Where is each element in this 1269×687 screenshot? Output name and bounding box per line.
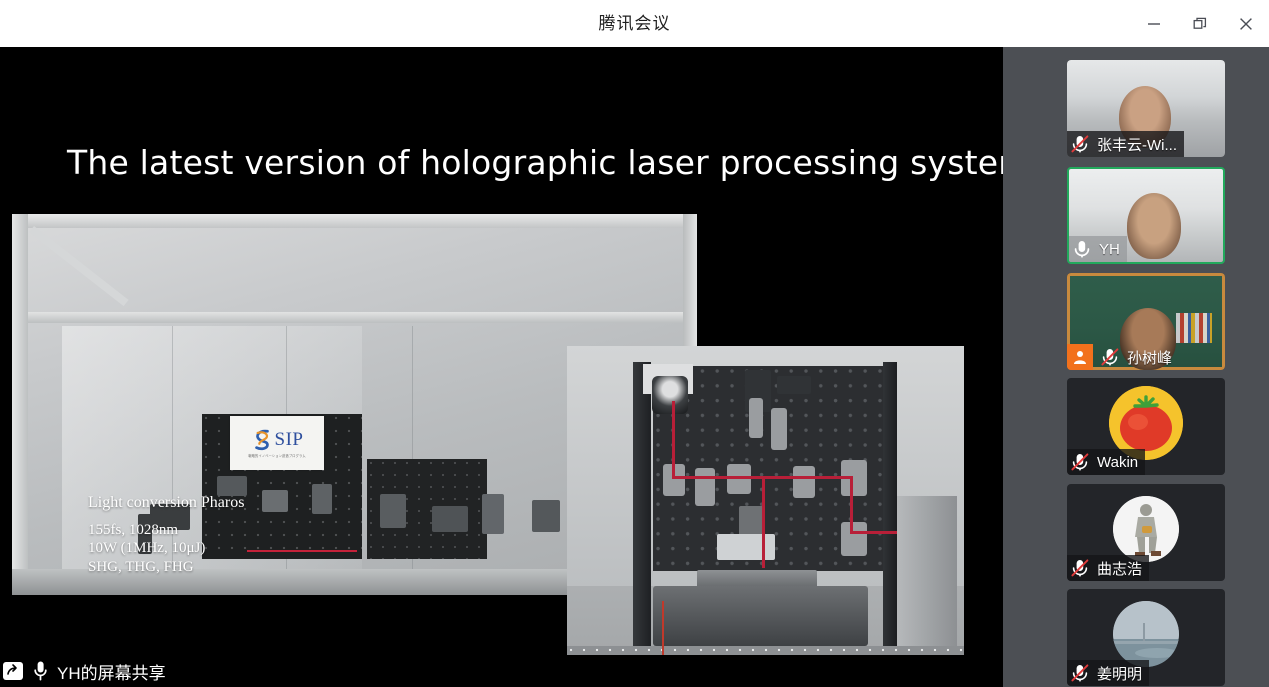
restore-icon [1193, 17, 1207, 31]
optic-mount-f [432, 506, 468, 532]
optic-post-r5 [727, 464, 751, 494]
restore-button[interactable] [1177, 0, 1223, 47]
optic-post-r8 [841, 522, 867, 556]
minimize-icon [1147, 17, 1161, 31]
laser-beam-right-down [850, 476, 853, 534]
frame-diagonal-brace [29, 226, 128, 306]
annotation-line-0: 155fs, 1028nm [88, 521, 244, 539]
frame-top [12, 214, 697, 228]
participant-nameplate: Wakin [1067, 449, 1145, 475]
optic-mount-g [482, 494, 504, 534]
participant-nameplate: 张丰云-Wi... [1067, 131, 1184, 157]
support-post-right [883, 362, 897, 652]
optic-post-r4 [695, 468, 715, 506]
participant-nameplate: 孙树峰 [1067, 344, 1179, 370]
mic-muted-icon [1097, 344, 1123, 370]
sip-logo-subtext: 戦略的イノベーション創造プログラム [248, 453, 305, 458]
annotation-heading: Light conversion Pharos [88, 494, 244, 512]
laser-beam-down [762, 476, 765, 568]
participant-tile-wakin[interactable]: Wakin [1067, 378, 1225, 475]
presentation-slide: The latest version of holographic laser … [0, 47, 1003, 655]
sip-logo: SIP 戦略的イノベーション創造プログラム [230, 416, 324, 470]
participant-nameplate: 姜明明 [1067, 660, 1149, 686]
motion-stage [653, 586, 868, 646]
tencent-meeting-window: 腾讯会议 [0, 0, 1269, 687]
seascape-avatar-icon [1113, 601, 1179, 667]
optic-mount-c [262, 490, 288, 512]
screen-share-bar: YH的屏幕共享 [0, 655, 1003, 687]
optic-post-r2 [771, 408, 787, 450]
sip-mark-icon [251, 428, 273, 452]
participant-tile-sunshufeng[interactable]: 孙树峰 [1067, 273, 1225, 370]
participant-name: Wakin [1097, 454, 1138, 471]
annotation-line-2: SHG, THG, FHG [88, 558, 244, 576]
participant-name: 孙树峰 [1127, 347, 1172, 368]
participant-name: YH [1099, 241, 1120, 258]
frame-left [12, 214, 28, 595]
host-badge-icon [1067, 344, 1093, 370]
frame-mid [12, 312, 697, 323]
mic-muted-icon [1067, 131, 1093, 157]
laser-beam-path-left [247, 550, 357, 552]
app-title: 腾讯会议 [0, 0, 1269, 47]
avatar [1113, 496, 1179, 562]
window-controls [1131, 0, 1269, 47]
annotation-line-1: 10W (1MHz, 10μJ) [88, 539, 244, 557]
participant-tile-quzhihao[interactable]: 曲志浩 [1067, 484, 1225, 581]
laser-beam-vertical [672, 401, 675, 479]
participant-tile-jiangmingming[interactable]: 姜明明 [1067, 589, 1225, 686]
shared-screen-stage[interactable]: The latest version of holographic laser … [0, 47, 1003, 655]
participant-tile-zhangfengyun[interactable]: 张丰云-Wi... [1067, 60, 1225, 157]
translation-rail [897, 496, 957, 646]
close-button[interactable] [1223, 0, 1269, 47]
optic-mount-r2 [777, 376, 811, 394]
optic-mount-e [380, 494, 406, 528]
title-bar: 腾讯会议 [0, 0, 1269, 47]
mic-active-icon [1069, 236, 1095, 262]
mic-muted-icon [1067, 660, 1093, 686]
optical-table [567, 646, 964, 655]
optic-mount-b [217, 476, 247, 496]
participant-nameplate: 曲志浩 [1067, 555, 1149, 581]
microphone-icon [33, 660, 48, 682]
optic-mount-h [532, 500, 560, 532]
minimize-button[interactable] [1131, 0, 1177, 47]
participant-name: 曲志浩 [1097, 558, 1142, 579]
camera-module [717, 534, 775, 560]
seated-person-avatar-icon [1113, 496, 1179, 562]
red-cable [662, 601, 664, 655]
laser-output-lens [652, 376, 688, 414]
support-post-left [633, 362, 651, 652]
bookshelf-decor [1176, 313, 1212, 343]
slide-title: The latest version of holographic laser … [67, 143, 1003, 182]
slide-annotation: Light conversion Pharos 155fs, 1028nm 10… [88, 494, 244, 576]
photo-open-optical-setup [567, 346, 964, 655]
optic-post-r6 [793, 466, 815, 498]
participant-nameplate: YH [1069, 236, 1127, 262]
mic-muted-icon [1067, 449, 1093, 475]
participant-tile-yh[interactable]: YH [1067, 167, 1225, 264]
participant-name: 张丰云-Wi... [1097, 134, 1177, 155]
avatar [1113, 601, 1179, 667]
optic-mount-d [312, 484, 332, 514]
optic-post-r1 [749, 398, 763, 438]
screen-share-label: YH的屏幕共享 [57, 659, 166, 684]
close-icon [1239, 17, 1253, 31]
participant-sidebar: 张丰云-Wi... YH [1003, 47, 1269, 687]
sip-logo-text: SIP [275, 429, 304, 451]
mic-muted-icon [1067, 555, 1093, 581]
screen-share-icon [2, 661, 24, 681]
participant-name: 姜明明 [1097, 663, 1142, 684]
